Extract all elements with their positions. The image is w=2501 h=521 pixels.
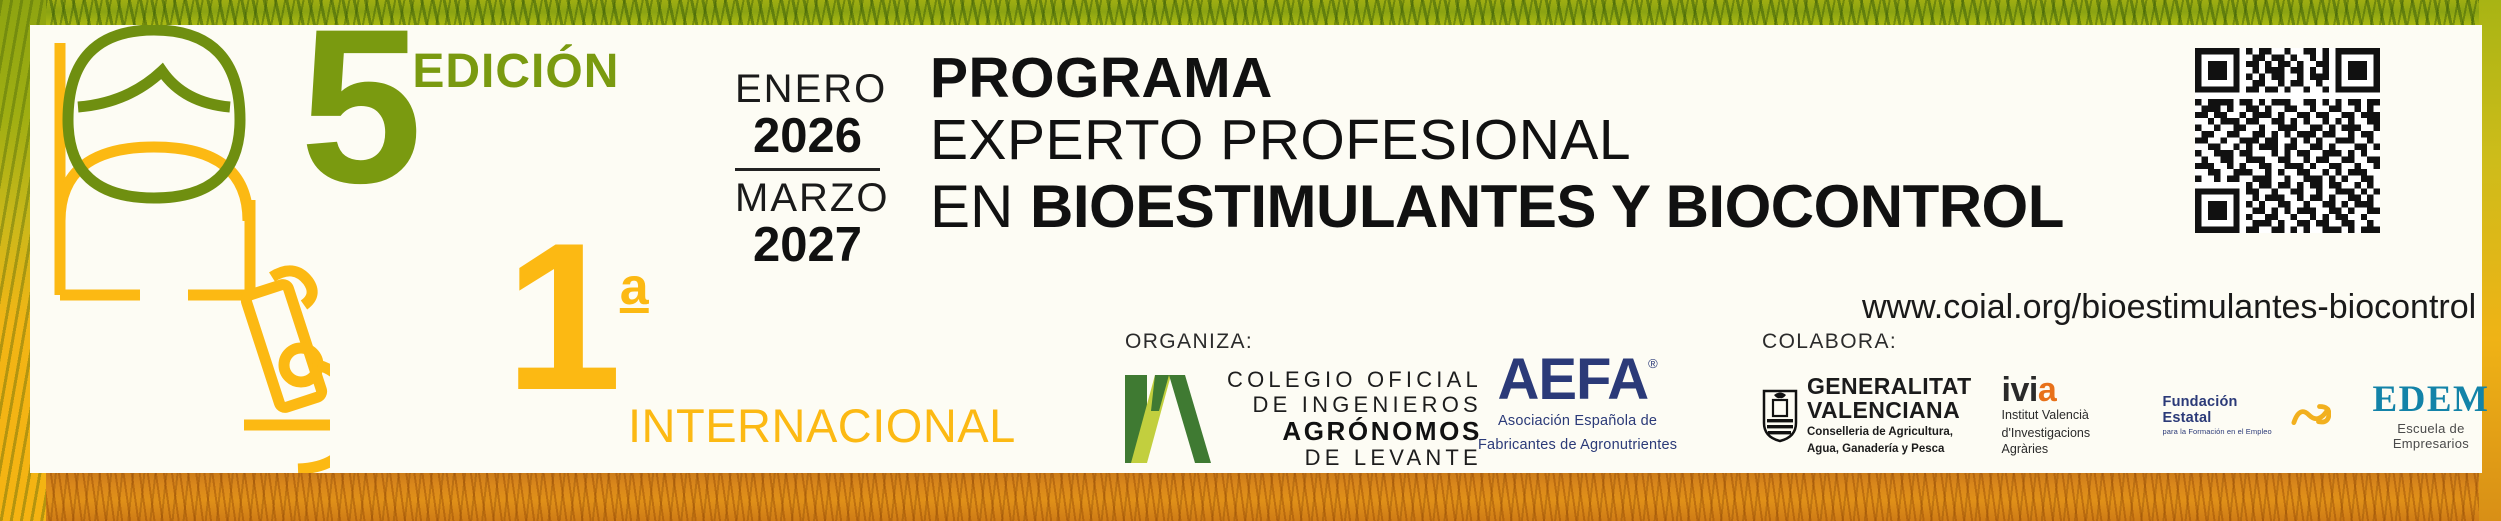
qr-code-svg bbox=[2195, 48, 2380, 233]
coial-logo: COLEGIO OFICIAL DE INGENIEROS AGRÓNOMOS … bbox=[1125, 368, 1482, 471]
title-line-programa: PROGRAMA bbox=[930, 48, 2064, 109]
international-number: 1 bbox=[505, 235, 618, 399]
generalitat-sub-1: Conselleria de Agricultura, bbox=[1807, 425, 1972, 439]
website-url[interactable]: www.coial.org/bioestimulantes-biocontrol bbox=[1862, 288, 2476, 327]
generalitat-sub-2: Agua, Ganadería y Pesca bbox=[1807, 442, 1972, 456]
fundacion-ribbon-icon bbox=[2291, 403, 2331, 429]
aefa-word: AEFA bbox=[1497, 352, 1648, 407]
coial-mark-icon bbox=[1125, 375, 1211, 463]
coial-line-3: AGRÓNOMOS bbox=[1227, 417, 1482, 446]
edem-logo: EDEM Escuela de Empresarios bbox=[2361, 381, 2501, 451]
aefa-subtitle-1: Asociación Española de bbox=[1478, 412, 1677, 431]
generalitat-shield-icon bbox=[1762, 389, 1798, 443]
fundacion-line-2: para la Formación en el Empleo bbox=[2163, 427, 2285, 436]
start-year: 2026 bbox=[735, 111, 880, 163]
edition-number: 5 bbox=[300, 18, 416, 194]
ivia-sub-2: d'Investigacions Agràries bbox=[2002, 426, 2133, 457]
edem-wordmark: EDEM bbox=[2361, 381, 2501, 418]
date-block: ENERO 2026 MARZO 2027 bbox=[735, 68, 880, 272]
international-label: INTERNACIONAL bbox=[628, 398, 1016, 453]
colabora-label: COLABORA: bbox=[1762, 330, 2501, 354]
fundacion-wordmark: Fundación Estatal para la Formación en e… bbox=[2163, 395, 2285, 436]
colabora-logo-row: GENERALITAT VALENCIANA Conselleria de Ag… bbox=[1762, 374, 2501, 457]
start-month: ENERO bbox=[735, 68, 880, 111]
aefa-wordmark: AEFA ® bbox=[1478, 352, 1677, 407]
generalitat-wordmark: GENERALITAT VALENCIANA Conselleria de Ag… bbox=[1807, 375, 1972, 456]
program-title: PROGRAMA EXPERTO PROFESIONAL EN BIOESTIM… bbox=[930, 48, 2064, 240]
fundacion-estatal-logo: Fundación Estatal para la Formación en e… bbox=[2163, 395, 2331, 436]
aefa-logo: AEFA ® Asociación Española de Fabricante… bbox=[1478, 352, 1677, 455]
organiza-label: ORGANIZA: bbox=[1125, 330, 1482, 354]
ivia-word-accent: a bbox=[2038, 371, 2056, 409]
date-divider bbox=[735, 168, 880, 171]
title-preposition: EN bbox=[930, 173, 1013, 240]
registered-trademark-icon: ® bbox=[1648, 356, 1658, 371]
decorative-icon-group bbox=[0, 25, 330, 473]
aefa-subtitle-2: Fabricantes de Agronutrientes bbox=[1478, 436, 1677, 455]
end-year: 2027 bbox=[735, 220, 880, 272]
title-line-experto: EXPERTO PROFESIONAL bbox=[930, 109, 2064, 173]
generalitat-line-2: VALENCIANA bbox=[1807, 399, 1972, 422]
colabora-section: COLABORA: GENERALITAT VALENCIANA Con bbox=[1762, 330, 2501, 457]
coial-line-2: DE INGENIEROS bbox=[1227, 393, 1482, 418]
decorative-icons-svg bbox=[0, 25, 330, 473]
title-line-topic: EN BIOESTIMULANTES Y BIOCONTROL bbox=[930, 173, 2064, 240]
coial-line-1: COLEGIO OFICIAL bbox=[1227, 368, 1482, 393]
coial-wordmark: COLEGIO OFICIAL DE INGENIEROS AGRÓNOMOS … bbox=[1227, 368, 1482, 471]
person-head-icon bbox=[68, 30, 240, 198]
background-band-bottom bbox=[0, 469, 2501, 521]
edition-lockup: 5 EDICIÓN bbox=[300, 18, 619, 194]
generalitat-line-1: GENERALITAT bbox=[1807, 375, 1972, 398]
generalitat-valenciana-logo: GENERALITAT VALENCIANA Conselleria de Ag… bbox=[1762, 375, 1972, 456]
organiza-section: ORGANIZA: COLEGIO OFICIAL DE INGENIEROS … bbox=[1125, 330, 1482, 471]
fundacion-line-1: Fundación Estatal bbox=[2163, 395, 2285, 427]
edem-subtitle: Escuela de Empresarios bbox=[2361, 421, 2501, 451]
ivia-logo: ivia Institut Valencià d'Investigacions … bbox=[2002, 374, 2133, 457]
end-month: MARZO bbox=[735, 177, 880, 220]
ivia-sub-1: Institut Valencià bbox=[2002, 408, 2133, 424]
title-topic: BIOESTIMULANTES Y BIOCONTROL bbox=[1030, 173, 2064, 240]
ivia-wordmark: ivia bbox=[2002, 374, 2133, 406]
international-ordinal: a bbox=[620, 257, 649, 317]
ivia-word-prefix: ivi bbox=[2002, 371, 2038, 409]
microscope-icon bbox=[244, 271, 330, 469]
coial-line-4: DE LEVANTE bbox=[1227, 446, 1482, 471]
edition-label: EDICIÓN bbox=[412, 44, 619, 99]
qr-code[interactable] bbox=[2195, 48, 2380, 233]
international-lockup: 1 a bbox=[505, 235, 649, 399]
event-banner: 5 EDICIÓN 1 a INTERNACIONAL ENERO 2026 M… bbox=[0, 0, 2501, 521]
